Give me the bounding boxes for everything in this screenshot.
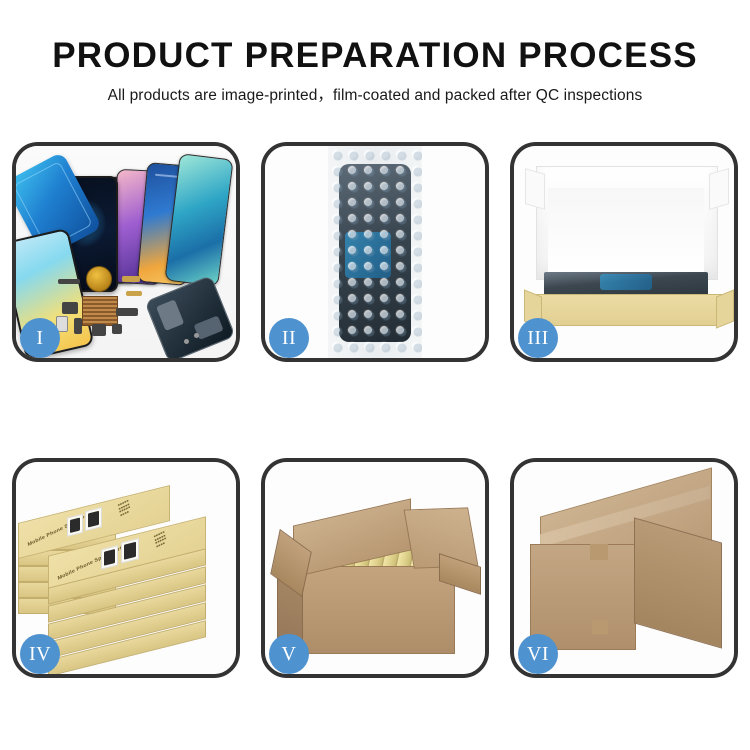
screw-icon	[194, 333, 199, 338]
spare-part-icon	[122, 276, 140, 282]
product-preparation-page: PRODUCT PREPARATION PROCESS All products…	[0, 0, 750, 750]
step-badge-5: V	[269, 634, 309, 674]
carton-front-face	[295, 566, 455, 654]
step-panel-2[interactable]: II	[261, 142, 489, 362]
step-badge-2: II	[269, 318, 309, 358]
sealed-carton-icon	[530, 492, 720, 650]
step-badge-4: IV	[20, 634, 60, 674]
screw-icon	[184, 339, 189, 344]
page-subtitle: All products are image-printed，film-coat…	[0, 86, 750, 106]
spare-part-icon	[116, 308, 138, 316]
step-badge-3: III	[518, 318, 558, 358]
spare-part-icon	[126, 291, 142, 296]
step-badge-6: VI	[518, 634, 558, 674]
header: PRODUCT PREPARATION PROCESS All products…	[0, 0, 750, 106]
connector-chip-icon	[82, 296, 118, 326]
steps-grid: I II III	[12, 142, 738, 682]
spare-part-icon	[112, 324, 122, 334]
speaker-part-icon	[86, 266, 112, 292]
carton-front-face	[530, 544, 636, 650]
step-panel-4[interactable]: Mobile Phone Spare Parts ■■■■■■■■■■■■■■■…	[12, 458, 240, 678]
open-carton-icon	[279, 496, 475, 656]
spare-part-icon	[58, 279, 80, 284]
step-panel-1[interactable]: I	[12, 142, 240, 362]
step-panel-5[interactable]: V	[261, 458, 489, 678]
carton-tab-icon	[590, 544, 608, 560]
step-panel-3[interactable]: III	[510, 142, 738, 362]
box-interior	[548, 188, 704, 274]
step-panel-6[interactable]: VI	[510, 458, 738, 678]
step-badge-1: I	[20, 318, 60, 358]
spare-part-icon	[62, 302, 78, 314]
page-title: PRODUCT PREPARATION PROCESS	[0, 36, 750, 76]
bubble-wrap-bag-icon	[328, 146, 422, 358]
spare-part-icon	[74, 318, 82, 334]
kraft-box-base-icon	[536, 294, 722, 326]
spare-part-icon	[92, 324, 106, 336]
bubble-pattern-shadow	[328, 146, 422, 358]
carton-tab-icon	[592, 620, 608, 634]
